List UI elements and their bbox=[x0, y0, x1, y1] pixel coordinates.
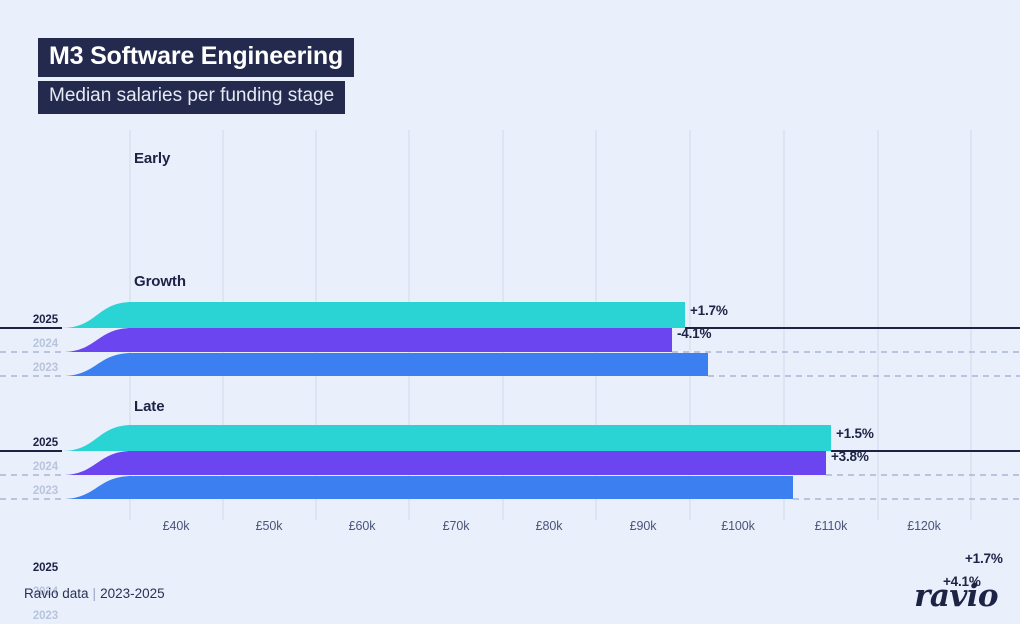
year-label-2023: 2023 bbox=[14, 362, 58, 374]
chart-area: Early2025+1.7%2024-4.1%2023Growth2025+1.… bbox=[0, 130, 1020, 520]
x-axis: £40k£50k£60k£70k£80k£90k£100k£110k£120k bbox=[0, 515, 1020, 545]
year-label-2025: 2025 bbox=[14, 562, 58, 574]
x-tick-label: £110k bbox=[815, 519, 848, 533]
pct-label-growth-2025: +1.5% bbox=[836, 426, 874, 441]
ravio-logo: ravio bbox=[914, 578, 998, 614]
footer-period: 2023-2025 bbox=[100, 586, 165, 601]
chart-page: M3 Software Engineering Median salaries … bbox=[0, 0, 1020, 624]
year-label-2025: 2025 bbox=[14, 314, 58, 326]
bar-growth-2025[interactable] bbox=[62, 425, 831, 451]
bar-early-2023[interactable] bbox=[62, 353, 708, 376]
group-label-late: Late bbox=[134, 398, 164, 415]
year-label-2023: 2023 bbox=[14, 485, 58, 497]
x-tick-label: £50k bbox=[256, 519, 283, 533]
x-tick-label: £60k bbox=[349, 519, 376, 533]
x-tick-label: £70k bbox=[443, 519, 470, 533]
x-tick-label: £120k bbox=[907, 519, 941, 533]
pct-label-late-2025: +1.7% bbox=[965, 551, 1003, 566]
x-tick-label: £90k bbox=[630, 519, 657, 533]
year-label-2024: 2024 bbox=[14, 461, 58, 473]
footer-source: Ravio data bbox=[24, 586, 89, 601]
pct-label-early-2025: +1.7% bbox=[690, 303, 728, 318]
bar-early-2025[interactable] bbox=[62, 302, 685, 328]
year-label-2025: 2025 bbox=[14, 437, 58, 449]
group-label-early: Early bbox=[134, 150, 170, 167]
group-label-growth: Growth bbox=[134, 273, 186, 290]
bar-growth-2023[interactable] bbox=[62, 476, 793, 499]
x-tick-label: £100k bbox=[721, 519, 755, 533]
footer-caption: Ravio data|2023-2025 bbox=[24, 586, 165, 601]
footer-separator: | bbox=[93, 586, 97, 601]
page-subtitle: Median salaries per funding stage bbox=[38, 81, 345, 114]
year-label-2024: 2024 bbox=[14, 338, 58, 350]
bar-early-2024[interactable] bbox=[62, 328, 672, 352]
pct-label-early-2024: -4.1% bbox=[677, 326, 711, 341]
bar-growth-2024[interactable] bbox=[62, 451, 826, 475]
page-title: M3 Software Engineering bbox=[38, 38, 354, 77]
x-tick-label: £80k bbox=[536, 519, 563, 533]
pct-label-growth-2024: +3.8% bbox=[831, 449, 869, 464]
year-label-2023: 2023 bbox=[14, 610, 58, 622]
x-tick-label: £40k bbox=[163, 519, 190, 533]
title-block: M3 Software Engineering Median salaries … bbox=[38, 38, 354, 114]
